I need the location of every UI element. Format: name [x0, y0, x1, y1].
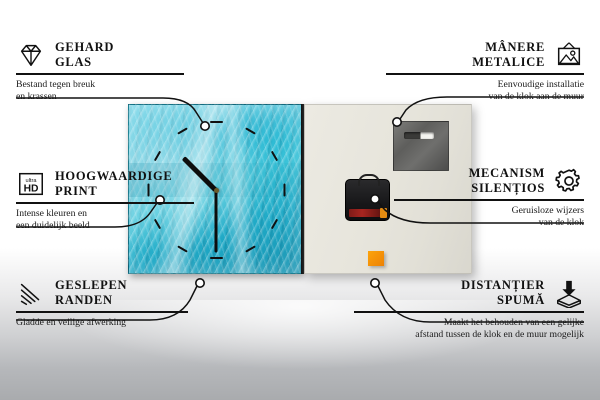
callout-sub-line2: en krassen	[16, 91, 184, 104]
callout-title-line2: GLAS	[55, 55, 114, 70]
clock-tick	[245, 127, 256, 134]
callout-rule	[16, 311, 188, 313]
clock-tick	[210, 257, 223, 259]
callout-title-line1: GEHARD	[55, 40, 114, 55]
mechanism-loop	[358, 174, 380, 186]
battery-terminal	[380, 208, 387, 218]
clock-tick	[271, 219, 278, 230]
callout-title-line1: MECANISM	[469, 166, 545, 181]
callout-sub-line2: van de klok	[394, 217, 584, 230]
callout-sub-line1: Maakt het behouden van een gelijke	[354, 317, 584, 330]
callout-rule	[394, 199, 584, 201]
callout-sub-line1: Eenvoudige installatie	[386, 79, 584, 92]
callout-head: MECANISM SILENȚIOS	[394, 166, 584, 196]
clock-tick	[271, 151, 278, 162]
clock-tick	[177, 245, 188, 252]
callout-title-line2: SPUMĂ	[461, 293, 545, 308]
callout-title-line2: SILENȚIOS	[469, 181, 545, 196]
callout-sub-line2: een duidelijk beeld	[16, 220, 194, 233]
callout-sub-line2: van de klok aan de muur	[386, 91, 584, 104]
clock-tick	[153, 151, 160, 162]
quartz-mechanism	[345, 179, 390, 221]
clock-tick	[177, 127, 188, 134]
infographic-canvas: GEHARD GLAS Bestand tegen breuk en krass…	[0, 0, 600, 400]
spacer-press-icon	[554, 278, 584, 308]
callout-head: GEHARD GLAS	[16, 40, 184, 70]
callout-head: MÂNERE METALICE	[386, 40, 584, 70]
callout-sub-line1: Gladde en veilige afwerking	[16, 317, 188, 330]
bevelled-edges-icon	[16, 278, 46, 308]
battery	[349, 209, 382, 217]
callout-mecanism-silentios: MECANISM SILENȚIOS Geruisloze wijzers va…	[394, 166, 584, 230]
foam-spacer	[368, 251, 384, 266]
callout-geslepen-randen: GESLEPEN RANDEN Gladde en veilige afwerk…	[16, 278, 188, 329]
callout-rule	[16, 202, 194, 204]
callout-head: DISTANȚIER SPUMĂ	[354, 278, 584, 308]
hanger-slot	[404, 132, 434, 139]
clock-tick	[245, 245, 256, 252]
ultra-hd-icon: ultra HD	[16, 169, 46, 199]
callout-distantier-spuma: DISTANȚIER SPUMĂ Maakt het behouden van …	[354, 278, 584, 342]
callout-sub-line1: Bestand tegen breuk	[16, 79, 184, 92]
svg-text:HD: HD	[24, 184, 39, 195]
callout-title-line1: GESLEPEN	[55, 278, 127, 293]
metal-hanger-plate	[393, 121, 449, 171]
callout-head: ultra HD HOOGWAARDIGE PRINT	[16, 169, 194, 199]
callout-title-line1: HOOGWAARDIGE	[55, 169, 172, 184]
diamond-icon	[16, 40, 46, 70]
callout-hoogwaardige-print: ultra HD HOOGWAARDIGE PRINT Intense kleu…	[16, 169, 194, 233]
callout-rule	[354, 311, 584, 313]
callout-title-line1: DISTANȚIER	[461, 278, 545, 293]
callout-title-line1: MÂNERE	[472, 40, 545, 55]
picture-frame-icon	[554, 40, 584, 70]
callout-rule	[386, 73, 584, 75]
callout-sub-line1: Intense kleuren en	[16, 208, 194, 221]
callout-sub-line1: Geruisloze wijzers	[394, 205, 584, 218]
callout-rule	[16, 73, 184, 75]
minute-hand	[215, 190, 218, 252]
clock-hub	[214, 188, 219, 193]
callout-title-line2: PRINT	[55, 184, 172, 199]
callout-gehard-glas: GEHARD GLAS Bestand tegen breuk en krass…	[16, 40, 184, 104]
callout-head: GESLEPEN RANDEN	[16, 278, 188, 308]
clock-tick	[283, 184, 285, 197]
gear-icon	[554, 166, 584, 196]
callout-title-line2: METALICE	[472, 55, 545, 70]
callout-sub-line2: afstand tussen de klok en de muur mogeli…	[354, 329, 584, 342]
clock-tick	[210, 121, 223, 123]
callout-manere-metalice: MÂNERE METALICE Eenvoudige installatie v…	[386, 40, 584, 104]
callout-title-line2: RANDEN	[55, 293, 127, 308]
